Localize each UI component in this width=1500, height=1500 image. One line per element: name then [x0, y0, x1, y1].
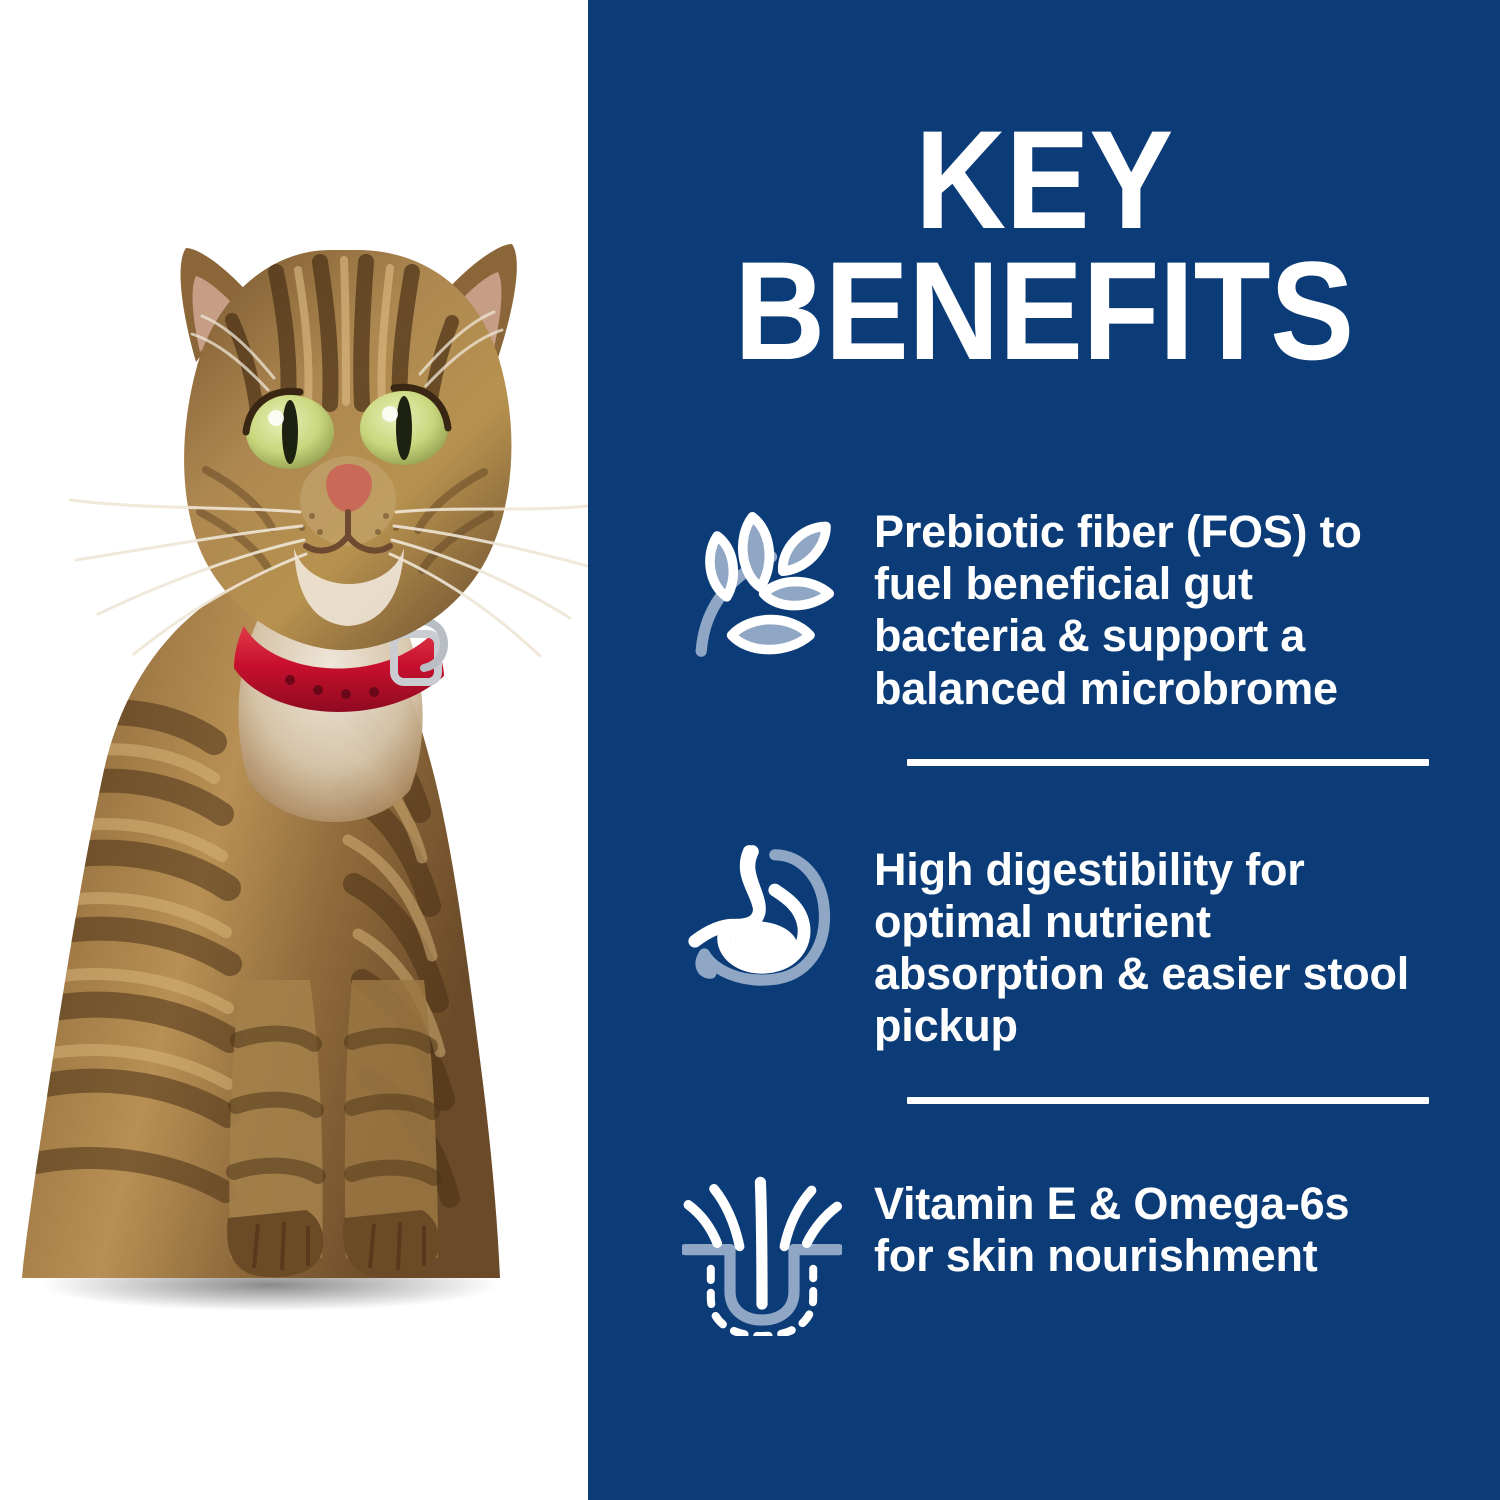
hair-follicle-icon [676, 1172, 848, 1344]
key-benefits-banner: KEY BENEFITS [0, 0, 1500, 1500]
benefits-panel: KEY BENEFITS [588, 0, 1500, 1500]
benefit-divider-1 [907, 759, 1429, 766]
benefit-text-prebiotic-fiber: Prebiotic fiber (FOS) to fuel beneficial… [874, 500, 1419, 715]
benefit-item-skin-nourishment: Vitamin E & Omega-6s for skin nourishmen… [676, 1172, 1434, 1344]
cat-photo [0, 0, 588, 1500]
leaf-sprig-icon [676, 500, 848, 672]
title-line-1: KEY [650, 118, 1438, 241]
benefit-text-skin-nourishment: Vitamin E & Omega-6s for skin nourishmen… [874, 1172, 1419, 1282]
title-line-2: BENEFITS [650, 249, 1438, 372]
benefit-divider-2 [907, 1097, 1429, 1104]
page-title: KEY BENEFITS [588, 118, 1500, 372]
benefit-text-digestibility: High digestibility for optimal nutrient … [874, 838, 1419, 1053]
benefit-list: Prebiotic fiber (FOS) to fuel beneficial… [676, 500, 1434, 1344]
stomach-icon [676, 838, 848, 1010]
benefit-item-prebiotic-fiber: Prebiotic fiber (FOS) to fuel beneficial… [676, 500, 1434, 715]
cat-photo-panel [0, 0, 588, 1500]
benefit-item-digestibility: High digestibility for optimal nutrient … [676, 838, 1434, 1053]
